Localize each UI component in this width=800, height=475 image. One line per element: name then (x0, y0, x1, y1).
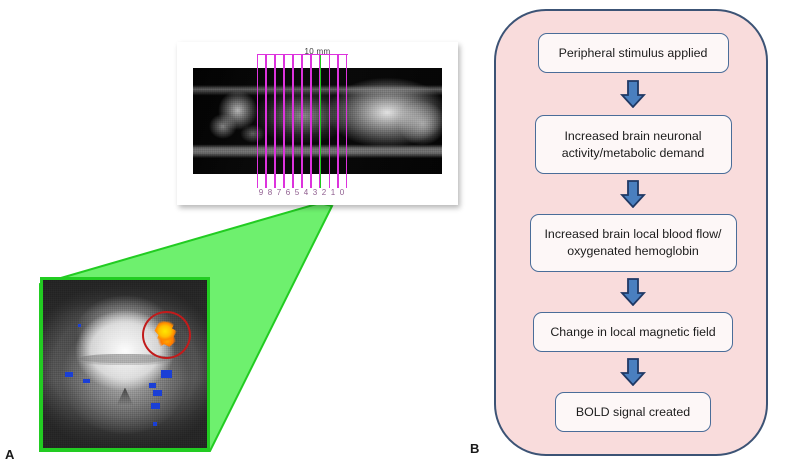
slice-label: 3 (313, 188, 317, 197)
panel-label-b: B (470, 441, 479, 456)
arrow-down-icon (620, 80, 646, 108)
figure-canvas: A 10 mm 9 8 7 6 5 4 (0, 0, 800, 475)
arrow-down-icon (620, 358, 646, 386)
flow-step-blood-flow[interactable]: Increased brain local blood flow/ oxygen… (530, 214, 737, 272)
slice-label: 6 (286, 188, 290, 197)
slice-label: 0 (340, 188, 344, 197)
bold-flowchart: Peripheral stimulus applied Increased br… (496, 11, 770, 458)
panel-label-a: A (5, 447, 14, 462)
arrow-down-icon (620, 278, 646, 306)
slice-label: 8 (268, 188, 272, 197)
sagittal-card: 10 mm 9 8 7 6 5 4 3 2 1 (177, 42, 458, 205)
arrow-down-icon (620, 180, 646, 208)
coronal-brain-slice-fmri (40, 277, 210, 451)
slice-label: 1 (331, 188, 335, 197)
bold-cascade-panel: Peripheral stimulus applied Increased br… (494, 9, 768, 456)
slice-label: 7 (277, 188, 281, 197)
slice-label: 4 (304, 188, 308, 197)
flow-step-peripheral-stimulus[interactable]: Peripheral stimulus applied (538, 33, 729, 73)
flow-step-bold-signal[interactable]: BOLD signal created (555, 392, 711, 432)
slice-label: 2 (322, 188, 326, 197)
flow-step-neuronal-activity[interactable]: Increased brain neuronal activity/metabo… (535, 115, 732, 174)
roi-circle-marker (142, 311, 191, 359)
flow-step-magnetic-field[interactable]: Change in local magnetic field (533, 312, 733, 352)
slice-label: 9 (259, 188, 263, 197)
slice-label: 5 (295, 188, 299, 197)
